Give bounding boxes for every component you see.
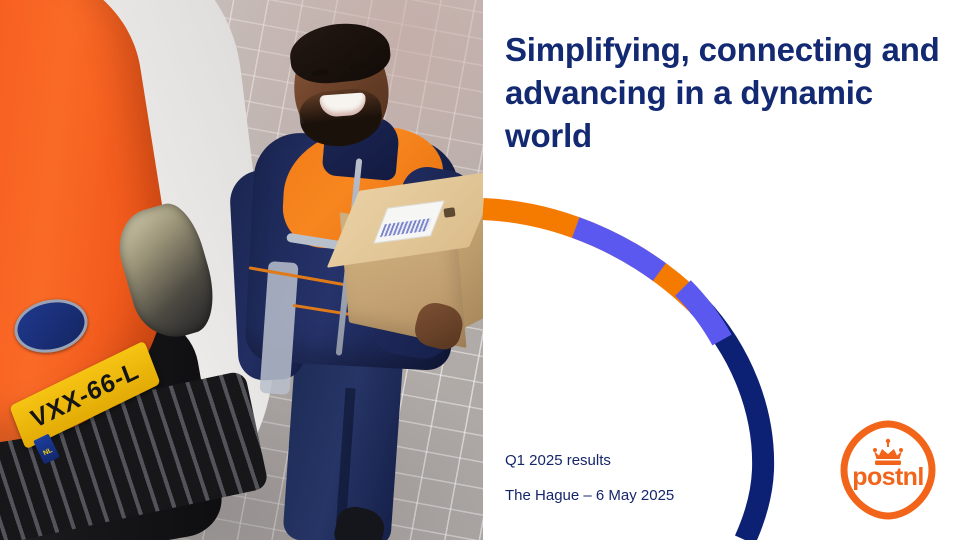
slide-title: Simplifying, connecting and advancing in… [505,28,945,157]
parcel-barcode-icon [380,218,432,237]
parcel-seal [443,207,455,217]
arc-periwinkle-segment [483,209,698,305]
arc-orange-segment [483,209,698,305]
courier-figure [228,18,483,540]
subtitle-line-results: Q1 2025 results [505,443,674,478]
subtitle-line-location-date: The Hague – 6 May 2025 [505,478,674,513]
postnl-crown-icon [873,439,903,465]
arc-periwinkle-tail [683,288,722,340]
cover-photo: postnl VXX-66-L NL [0,0,483,540]
presentation-slide: postnl VXX-66-L NL [0,0,960,540]
van-hood-highlight [0,21,44,312]
postnl-logo: postnl [836,418,940,522]
postnl-wordmark: postnl [852,463,923,491]
arc-navy-segment [698,305,763,540]
slide-subtitle: Q1 2025 results The Hague – 6 May 2025 [505,443,674,513]
